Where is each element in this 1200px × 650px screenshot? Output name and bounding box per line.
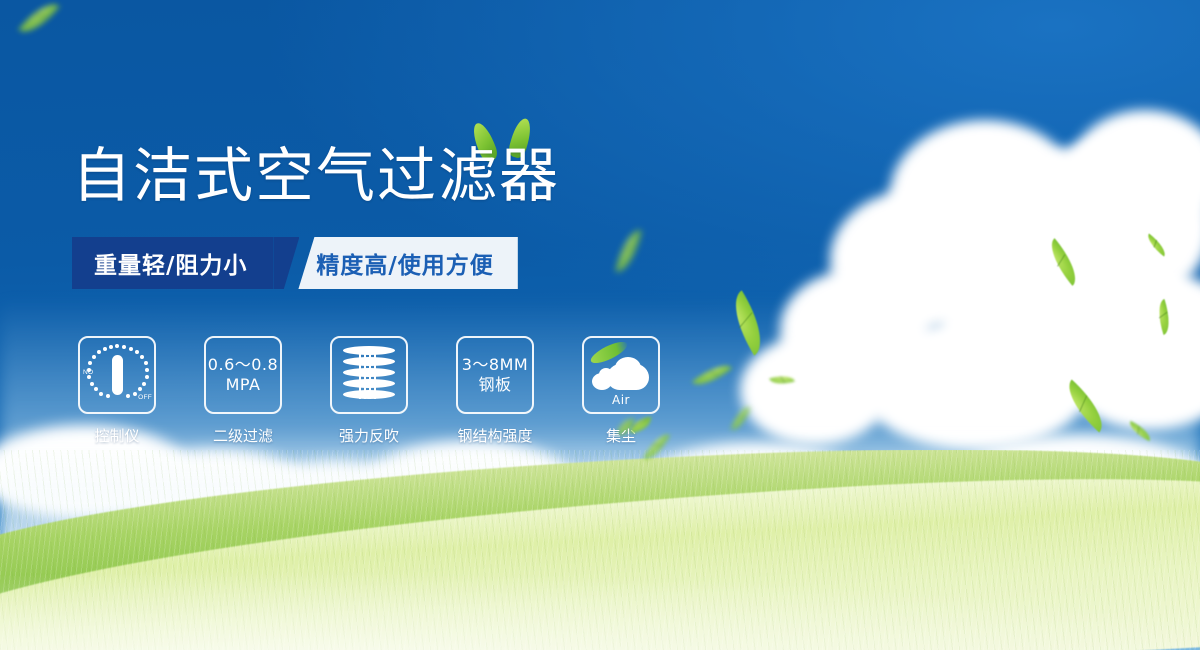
hero-banner: 自洁式空气过滤器 重量轻/阻力小 精度高/使用方便	[0, 0, 1200, 650]
steel-thickness: 3～8MM	[462, 355, 528, 375]
page-title: 自洁式空气过滤器	[72, 146, 560, 205]
feature-item-dust[interactable]: Air 集尘	[582, 336, 660, 446]
pressure-value: 0.6～0.8	[208, 355, 278, 375]
cloud-cluster-right	[770, 120, 1200, 450]
subtitle-divider	[273, 237, 299, 289]
dial-on-label: NO	[83, 369, 93, 376]
feature-label: 二级过滤	[213, 425, 273, 446]
dial-pointer	[112, 355, 123, 395]
feature-label: 强力反吹	[339, 425, 399, 446]
feature-icon-box	[330, 336, 408, 414]
feature-icon-box: Air	[582, 336, 660, 414]
feature-icon-box: NO OFF	[78, 336, 156, 414]
feature-label: 钢结构强度	[457, 425, 532, 446]
grass-field	[0, 450, 1200, 650]
feature-item-steel[interactable]: 3～8MM 钢板 钢结构强度	[456, 336, 534, 446]
dial-off-label: OFF	[138, 394, 152, 401]
feature-icon-box: 3～8MM 钢板	[456, 336, 534, 414]
steel-plate-text-icon: 3～8MM 钢板	[462, 355, 528, 394]
feature-label: 控制仪	[94, 425, 139, 446]
air-cloud-icon: Air	[591, 347, 651, 403]
feature-icon-box: 0.6～0.8 MPA	[204, 336, 282, 414]
air-label: Air	[591, 393, 651, 407]
pressure-text-icon: 0.6～0.8 MPA	[208, 355, 278, 394]
subtitle-right: 精度高/使用方便	[298, 237, 517, 289]
feature-item-pressure[interactable]: 0.6～0.8 MPA 二级过滤	[204, 336, 282, 446]
feature-list: NO OFF 控制仪 0.6～0.8 MPA 二级过滤	[78, 336, 660, 446]
steel-material: 钢板	[462, 375, 528, 395]
subtitle-left: 重量轻/阻力小	[72, 237, 273, 289]
grass-highlight	[0, 500, 1200, 650]
subtitle-bar: 重量轻/阻力小 精度高/使用方便	[72, 237, 518, 289]
pressure-unit: MPA	[208, 375, 278, 395]
feature-item-control[interactable]: NO OFF 控制仪	[78, 336, 156, 446]
feature-item-backblow[interactable]: 强力反吹	[330, 336, 408, 446]
coil-filter-icon	[343, 346, 395, 404]
control-dial-icon: NO OFF	[84, 342, 150, 408]
